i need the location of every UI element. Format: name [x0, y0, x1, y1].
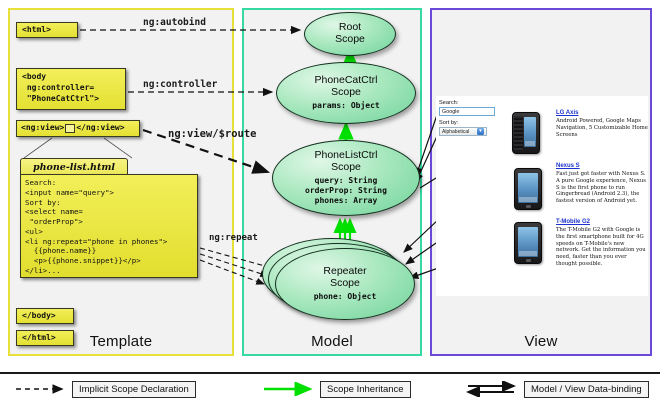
- code-box-ng-view: <ng:view> </ng:view>: [16, 120, 140, 137]
- phone-snippet: The T-Mobile G2 with Google is the first…: [556, 227, 648, 268]
- scope-phonecatctrl-props: params: Object: [312, 101, 379, 111]
- solid-arrow-icon: [262, 382, 320, 396]
- search-input[interactable]: Google: [439, 107, 495, 116]
- sort-select[interactable]: Alphabetical ▼: [439, 127, 487, 136]
- scope-root-title: Root Scope: [335, 22, 365, 46]
- scope-phonelistctrl-props: query: String orderProp: String phones: …: [305, 176, 387, 206]
- panel-model-label: Model: [244, 333, 420, 350]
- legend: Implicit Scope Declaration Scope Inherit…: [0, 372, 660, 405]
- scope-phonelistctrl: PhoneListCtrl Scope query: String orderP…: [272, 140, 420, 216]
- scope-phonelistctrl-title: PhoneListCtrl Scope: [314, 150, 377, 174]
- label-ng-autobind: ng:autobind: [143, 17, 206, 28]
- ng-view-close-tag: </ng:view>: [76, 123, 124, 134]
- code-box-body-open: <body ng:controller= "PhoneCatCtrl">: [16, 68, 126, 110]
- legend-item-scope-inheritance: Scope Inheritance: [262, 381, 411, 397]
- phone-thumbnail: [512, 112, 540, 154]
- phone-list-callout: phone-list.html Search: <input name="que…: [20, 158, 198, 294]
- legend-item-implicit-scope: Implicit Scope Declaration: [14, 381, 196, 397]
- legend-label: Scope Inheritance: [320, 381, 411, 398]
- panel-view-label: View: [432, 333, 650, 350]
- sort-select-value: Alphabetical: [442, 128, 469, 136]
- phone-snippet: Fast just got faster with Nexus S. A pur…: [556, 171, 648, 205]
- phone-list-item: T-Mobile G2 The T-Mobile G2 with Google …: [556, 219, 648, 268]
- callout-title: phone-list.html: [20, 158, 128, 175]
- phone-name-link[interactable]: LG Axis: [556, 110, 648, 116]
- legend-label: Implicit Scope Declaration: [72, 381, 196, 398]
- scope-repeater-title: Repeater Scope: [323, 266, 366, 290]
- label-ng-controller: ng:controller: [143, 79, 217, 90]
- scope-root: Root Scope: [304, 12, 396, 56]
- phone-name-link[interactable]: T-Mobile G2: [556, 219, 648, 225]
- search-label: Search:: [439, 100, 458, 106]
- legend-label: Model / View Data-binding: [524, 381, 649, 398]
- sort-label: Sort by:: [439, 120, 458, 126]
- callout-code: Search: <input name="query"> Sort by: <s…: [20, 174, 198, 278]
- scope-repeater-props: phone: Object: [314, 292, 377, 302]
- diagram-canvas: Template Model View: [0, 0, 660, 405]
- phone-thumbnail: [514, 168, 542, 210]
- phone-thumbnail: [514, 222, 542, 264]
- ng-view-open-tag: <ng:view>: [21, 123, 64, 134]
- double-arrow-icon: [466, 381, 524, 397]
- legend-item-data-binding: Model / View Data-binding: [466, 381, 649, 397]
- chevron-down-icon: ▼: [477, 128, 484, 135]
- label-ng-view-route: ng:view/$route: [168, 128, 257, 140]
- code-box-html-close: </html>: [16, 330, 74, 346]
- phone-list-item: LG Axis Android Powered, Google Maps Nav…: [556, 110, 648, 138]
- legend-divider: [0, 372, 660, 374]
- phone-snippet: Android Powered, Google Maps Navigation,…: [556, 118, 648, 138]
- phone-list-item: Nexus S Fast just got faster with Nexus …: [556, 163, 648, 205]
- phone-name-link[interactable]: Nexus S: [556, 163, 648, 169]
- scope-phonecatctrl-title: PhoneCatCtrl Scope: [314, 75, 377, 99]
- label-ng-repeat: ng:repeat: [209, 233, 258, 243]
- dashed-arrow-icon: [14, 382, 72, 396]
- scope-phonecatctrl: PhoneCatCtrl Scope params: Object: [276, 62, 416, 124]
- code-box-html-open: <html>: [16, 22, 78, 38]
- scope-repeater: Repeater Scope phone: Object: [275, 248, 415, 320]
- code-box-body-close: </body>: [16, 308, 74, 324]
- ng-view-placeholder-icon: [65, 124, 75, 133]
